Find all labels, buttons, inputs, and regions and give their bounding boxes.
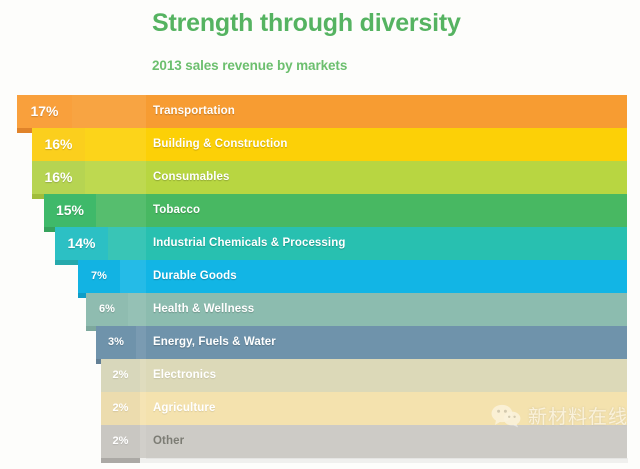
bar-category-label: Consumables: [153, 161, 230, 194]
bar-chart-plot: 17%Transportation16%Building & Construct…: [0, 0, 640, 469]
bar-category-label: Other: [153, 425, 184, 458]
bar-bevel: [128, 293, 146, 326]
bar-value-label: 2%: [101, 359, 140, 392]
bar-row: 17%Transportation: [0, 95, 640, 128]
bar-category-label: Building & Construction: [153, 128, 288, 161]
bar-category-label: Agriculture: [153, 392, 215, 425]
bar-row: 6%Health & Wellness: [0, 293, 640, 326]
bar-category-label: Industrial Chemicals & Processing: [153, 227, 345, 260]
bar-value-label: 7%: [78, 260, 120, 293]
bar-bevel: [85, 128, 146, 161]
bar-value-label: 2%: [101, 392, 140, 425]
bar-row: 3%Energy, Fuels & Water: [0, 326, 640, 359]
bar-category-label: Tobacco: [153, 194, 200, 227]
bar-row: 15%Tobacco: [0, 194, 640, 227]
bar-value-label: 17%: [17, 95, 72, 128]
bar-bevel: [136, 326, 146, 359]
bar-category-label: Energy, Fuels & Water: [153, 326, 276, 359]
bar-bevel: [108, 227, 146, 260]
bar-bevel: [120, 260, 146, 293]
bar-category-label: Electronics: [153, 359, 216, 392]
bar-band: [146, 194, 627, 227]
bar-category-label: Health & Wellness: [153, 293, 254, 326]
bar-row: 16%Consumables: [0, 161, 640, 194]
bar-category-label: Transportation: [153, 95, 235, 128]
bar-row: 2%Agriculture: [0, 392, 640, 425]
bar-value-label: 16%: [32, 128, 85, 161]
bar-row: 2%Other: [0, 425, 640, 458]
bar-row: 2%Electronics: [0, 359, 640, 392]
bar-bevel: [96, 194, 146, 227]
bar-band: [146, 425, 627, 458]
bar-row: 7%Durable Goods: [0, 260, 640, 293]
bar-row: 14%Industrial Chemicals & Processing: [0, 227, 640, 260]
bar-category-label: Durable Goods: [153, 260, 237, 293]
bar-value-label: 14%: [55, 227, 108, 260]
bar-value-label: 3%: [96, 326, 136, 359]
bar-value-label: 15%: [44, 194, 96, 227]
bar-value-label: 6%: [86, 293, 128, 326]
bar-row: 16%Building & Construction: [0, 128, 640, 161]
bar-value-label: 16%: [32, 161, 85, 194]
bar-bevel: [72, 95, 146, 128]
bar-bevel: [85, 161, 146, 194]
infographic-root: Strength through diversity 2013 sales re…: [0, 0, 640, 469]
bar-value-label: 2%: [101, 425, 140, 458]
bar-band: [146, 392, 627, 425]
chart-base-shadow: [101, 458, 628, 463]
bar-band: [146, 359, 627, 392]
